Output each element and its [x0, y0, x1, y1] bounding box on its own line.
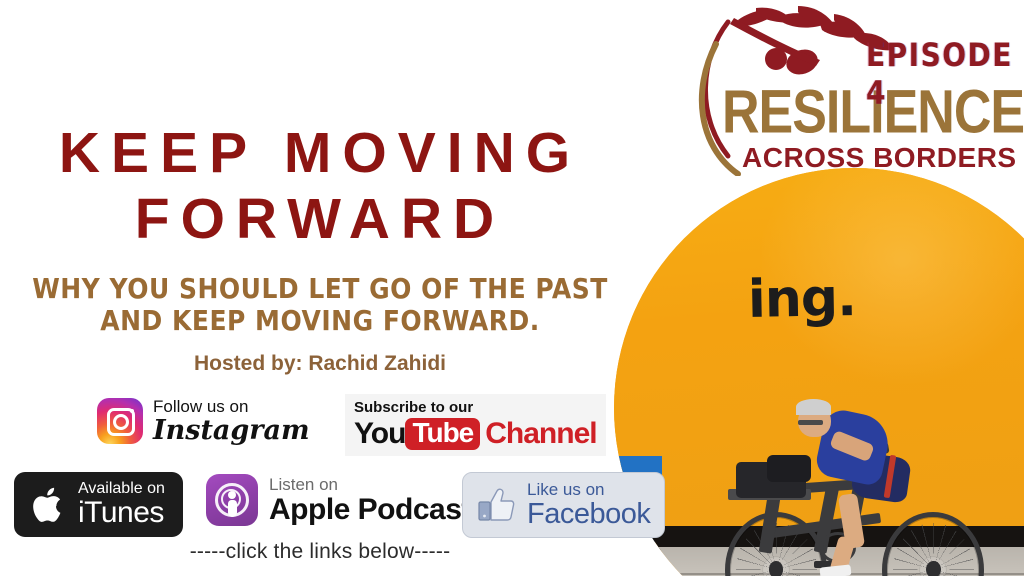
podcast-mic-stem [228, 500, 237, 517]
mural-text: ing. [748, 268, 857, 330]
youtube-word-you: You [354, 419, 405, 449]
facebook-badge[interactable]: Like us on Facebook [462, 472, 665, 538]
itunes-label-group: Available on iTunes [78, 481, 165, 528]
wheel-hub [769, 561, 784, 576]
apple-podcasts-label-group: Listen on Apple Podcasts [269, 476, 487, 525]
bicycle-front-wheel [882, 512, 984, 576]
itunes-badge[interactable]: Available on iTunes [14, 472, 183, 537]
host-credit: Hosted by: Rachid Zahidi [0, 352, 640, 376]
youtube-label-line-1: Subscribe to our [354, 400, 597, 415]
youtube-wordmark: You Tube Channel [354, 418, 597, 450]
photo-inner: ing. [614, 168, 1024, 576]
page-title: KEEP MOVING FORWARD [0, 120, 640, 252]
episode-number-badge: EPISODE 4 [866, 36, 1024, 112]
instagram-badge[interactable]: Follow us on Instagram [97, 398, 310, 444]
episode-subtitle: WHY YOU SHOULD LET GO OF THE PAST AND KE… [0, 272, 640, 337]
cyclist-figure [720, 408, 998, 576]
apple-podcasts-badge[interactable]: Listen on Apple Podcasts [206, 474, 487, 526]
subtitle-line-2: AND KEEP MOVING FORWARD. [0, 304, 640, 336]
apple-podcasts-label-line-2: Apple Podcasts [269, 495, 487, 525]
apple-podcasts-label-line-1: Listen on [269, 476, 487, 493]
youtube-word-channel: Channel [485, 419, 596, 449]
subtitle-line-1: WHY YOU SHOULD LET GO OF THE PAST [0, 272, 640, 304]
instagram-label-group: Follow us on Instagram [153, 398, 310, 444]
youtube-word-tube: Tube [405, 418, 480, 450]
headline-line-1: KEEP MOVING [59, 121, 581, 185]
wheel-hub [926, 561, 941, 576]
rider-shoe [819, 564, 851, 576]
instagram-label-line-2: Instagram [153, 417, 310, 444]
headline-line-2: FORWARD [0, 186, 640, 252]
instagram-icon [97, 398, 143, 444]
instagram-label-line-1: Follow us on [153, 398, 310, 415]
thumbnail-canvas: ing. [0, 0, 1024, 576]
itunes-label-line-1: Available on [78, 481, 165, 497]
youtube-label-group: Subscribe to our You Tube Channel [354, 400, 597, 450]
apple-podcasts-icon [206, 474, 258, 526]
podcast-mic-head [228, 491, 236, 499]
facebook-label-line-2: Facebook [527, 500, 650, 529]
facebook-label-line-1: Like us on [527, 481, 650, 498]
rider-hair [796, 399, 831, 415]
logo-tagline: ACROSS BORDERS [742, 144, 1017, 172]
cyclist-photo-circle: ing. [614, 168, 1024, 576]
instagram-icon-dot [130, 409, 134, 413]
thumbs-up-icon [477, 487, 517, 523]
youtube-badge[interactable]: Subscribe to our You Tube Channel [345, 394, 606, 456]
facebook-label-group: Like us on Facebook [527, 481, 650, 529]
bicycle-pannier-bag [767, 455, 812, 482]
apple-logo-icon [32, 485, 66, 525]
rider-glasses [798, 420, 823, 425]
click-links-note: -----click the links below----- [0, 540, 640, 564]
itunes-label-line-2: iTunes [78, 498, 165, 528]
